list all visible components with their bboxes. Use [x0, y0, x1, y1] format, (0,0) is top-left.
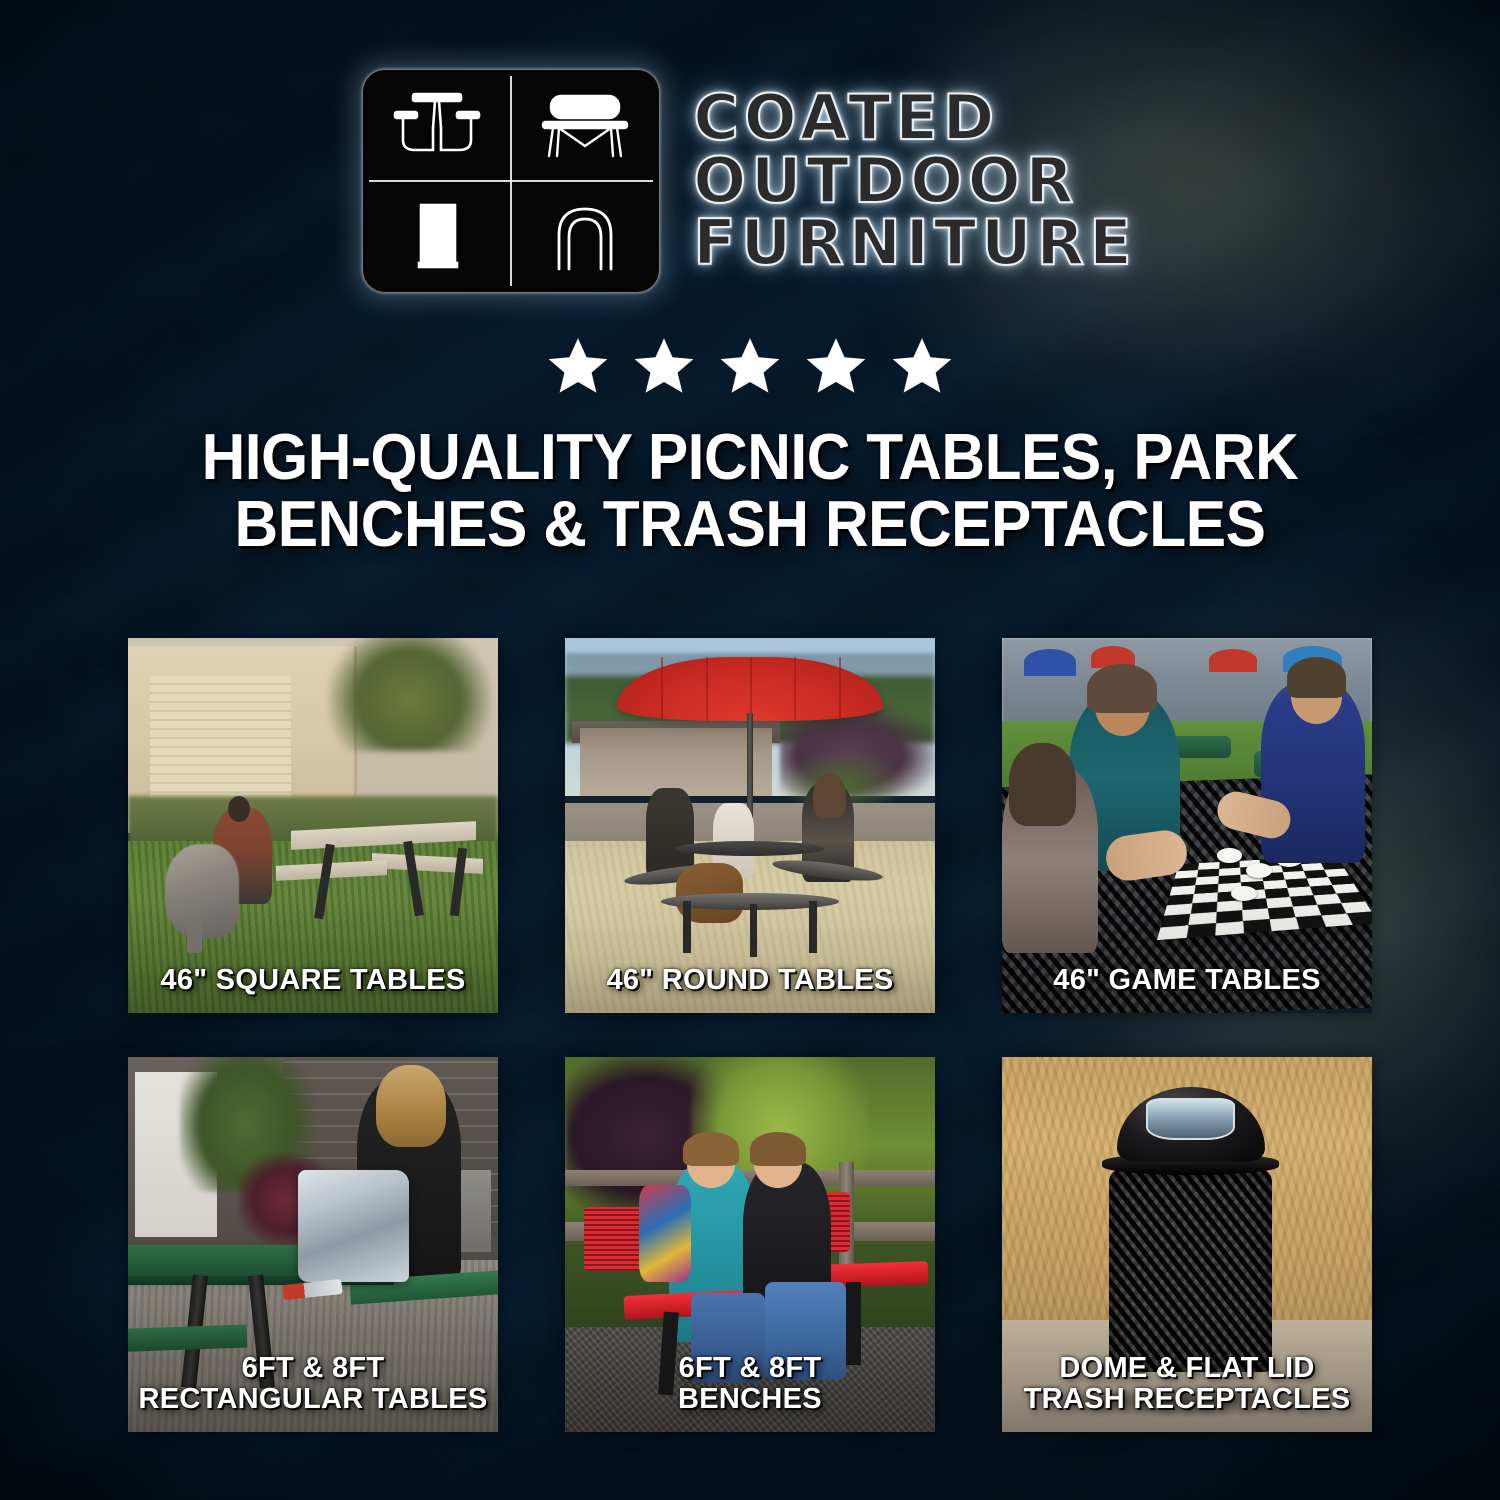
- bench-side-icon: [511, 70, 659, 181]
- product-caption: 6FT & 8FT BENCHES: [565, 1353, 935, 1414]
- picnic-table-icon: [363, 70, 511, 181]
- product-tile-benches[interactable]: 6FT & 8FT BENCHES: [565, 1057, 935, 1432]
- star-icon: [631, 334, 697, 398]
- product-tile-game-tables[interactable]: 46" GAME TABLES: [1002, 638, 1372, 1013]
- star-icon: [545, 334, 611, 398]
- bike-rack-arch-icon: [511, 181, 659, 292]
- caption-line-1: DOME & FLAT LID: [1010, 1353, 1364, 1383]
- logo-wordmark: COATED OUTDOOR FURNITURE: [693, 88, 1136, 274]
- caption-line-1: 46" ROUND TABLES: [573, 965, 927, 995]
- caption-line-2: RECTANGULAR TABLES: [136, 1384, 490, 1414]
- caption-line-1: 46" SQUARE TABLES: [136, 965, 490, 995]
- product-photo-game-tables: [1002, 638, 1372, 1013]
- trash-receptacle-icon: [363, 181, 511, 292]
- caption-line-1: 6FT & 8FT: [573, 1353, 927, 1383]
- caption-line-2: TRASH RECEPTACLES: [1010, 1384, 1364, 1414]
- product-caption: DOME & FLAT LID TRASH RECEPTACLES: [1002, 1353, 1372, 1414]
- product-caption: 46" ROUND TABLES: [565, 965, 935, 1013]
- product-photo-round-tables: [565, 638, 935, 1013]
- product-tile-square-tables[interactable]: 46" SQUARE TABLES: [128, 638, 498, 1013]
- headline-line-1: HIGH-QUALITY PICNIC TABLES, PARK: [202, 420, 1299, 493]
- logo-word-outdoor: OUTDOOR: [693, 151, 1136, 212]
- page-title: HIGH-QUALITY PICNIC TABLES, PARK BENCHES…: [150, 424, 1350, 558]
- brand-logo[interactable]: COATED OUTDOOR FURNITURE: [0, 0, 1500, 292]
- logo-word-furniture: FURNITURE: [693, 213, 1136, 274]
- star-icon: [889, 334, 955, 398]
- product-grid: 46" SQUARE TABLES: [128, 638, 1372, 1432]
- star-icon: [803, 334, 869, 398]
- caption-line-1: 46" GAME TABLES: [1010, 965, 1364, 995]
- caption-line-1: 6FT & 8FT: [136, 1353, 490, 1383]
- star-rating: [0, 334, 1500, 398]
- product-tile-rectangular-tables[interactable]: 6FT & 8FT RECTANGULAR TABLES: [128, 1057, 498, 1432]
- logo-word-coated: COATED: [693, 88, 1136, 149]
- product-caption: 46" GAME TABLES: [1002, 965, 1372, 1013]
- product-photo-square-tables: [128, 638, 498, 1013]
- star-icon: [717, 334, 783, 398]
- headline-line-2: BENCHES & TRASH RECEPTACLES: [150, 491, 1350, 558]
- product-caption: 46" SQUARE TABLES: [128, 965, 498, 1013]
- product-tile-round-tables[interactable]: 46" ROUND TABLES: [565, 638, 935, 1013]
- product-caption: 6FT & 8FT RECTANGULAR TABLES: [128, 1353, 498, 1414]
- caption-line-2: BENCHES: [573, 1384, 927, 1414]
- promo-banner: COATED OUTDOOR FURNITURE HIGH-QUALITY PI…: [0, 0, 1500, 1500]
- logo-mark: [363, 70, 659, 292]
- product-tile-trash-receptacles[interactable]: DOME & FLAT LID TRASH RECEPTACLES: [1002, 1057, 1372, 1432]
